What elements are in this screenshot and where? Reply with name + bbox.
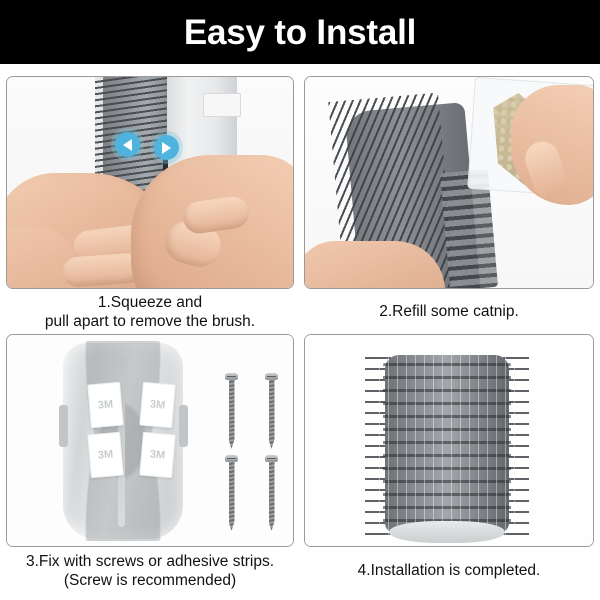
caption-line: 2.Refill some catnip. [379,303,519,322]
scene-squeeze [7,77,293,288]
adhesive-pad: 3M [139,382,176,429]
step-3-photo: 3M 3M 3M 3M [6,334,294,547]
caption-line: 4.Installation is completed. [358,562,541,581]
screw-head [225,455,238,462]
step-3-caption: 3.Fix with screws or adhesive strips. (S… [6,549,294,594]
housing-label-patch [203,93,241,117]
screw-shaft [269,379,275,449]
adhesive-pad-label: 3M [97,398,113,411]
page-title: Easy to Install [184,15,416,50]
step-2: 2.Refill some catnip. [304,76,594,334]
step-3: 3M 3M 3M 3M [6,334,294,594]
step-2-caption: 2.Refill some catnip. [304,291,594,334]
scene-mounting-hardware: 3M 3M 3M 3M [7,335,293,546]
adhesive-pad: 3M [87,432,124,479]
brush-pin-highlights [379,349,515,539]
bracket-side-tab-left [59,405,68,447]
screw-shaft [229,461,235,531]
caption-line: (Screw is recommended) [64,572,236,591]
adhesive-pad-label: 3M [97,448,113,461]
arrow-left-glyph [123,139,132,151]
screw-head [225,373,238,380]
caption-line: 1.Squeeze and [98,294,202,313]
header-banner: Easy to Install [0,0,600,64]
step-4-caption: 4.Installation is completed. [304,549,594,594]
arrow-left-icon [115,132,140,157]
step-1-photo [6,76,294,289]
screw-shaft [229,379,235,449]
steps-grid: 1.Squeeze and pull apart to remove the b… [0,64,600,600]
adhesive-pad: 3M [87,382,124,429]
screw-head [265,373,278,380]
adhesive-pad-label: 3M [149,448,165,461]
scene-refill-catnip [305,77,593,288]
bracket-side-tab-right [179,405,188,447]
infographic-page: Easy to Install [0,0,600,600]
step-1: 1.Squeeze and pull apart to remove the b… [6,76,294,334]
arrow-right-glyph [162,142,171,154]
screw-shaft [269,461,275,531]
step-4-photo [304,334,594,547]
arrow-right-icon [154,135,179,160]
screw [225,373,238,449]
scene-completed-brush [305,335,593,546]
adhesive-pad-label: 3M [149,398,165,411]
screw [225,455,238,531]
brush-base-cap [389,521,505,543]
caption-line: 3.Fix with screws or adhesive strips. [26,553,274,572]
step-1-caption: 1.Squeeze and pull apart to remove the b… [6,291,294,334]
adhesive-pad: 3M [139,432,176,479]
screw-head [265,455,278,462]
caption-line: pull apart to remove the brush. [45,313,255,332]
screw [265,373,278,449]
screw [265,455,278,531]
step-2-photo [304,76,594,289]
step-4: 4.Installation is completed. [304,334,594,594]
